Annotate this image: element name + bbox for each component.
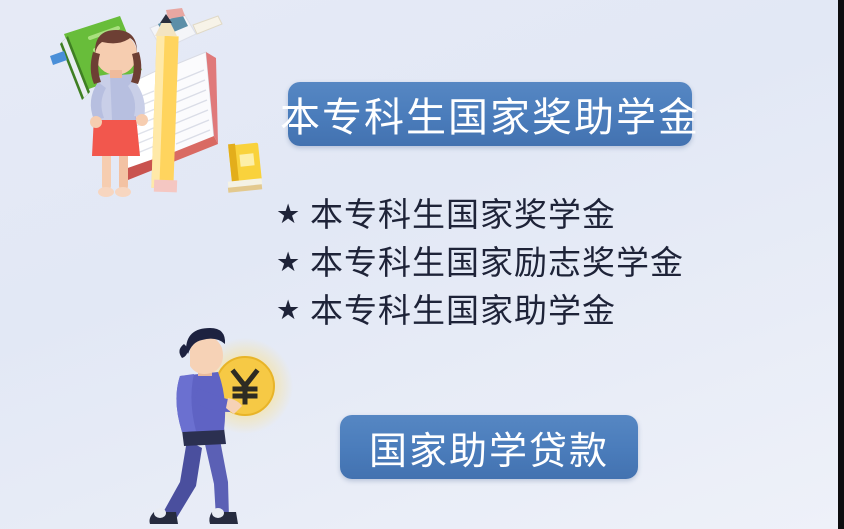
list-item-label: 本专科生国家助学金 (310, 294, 616, 327)
list-item-label: 本专科生国家励志奖学金 (310, 246, 684, 279)
small-yellow-book-icon (228, 143, 262, 193)
list-item: ★ 本专科生国家奖学金 (276, 190, 796, 238)
list-item-label: 本专科生国家奖学金 (310, 198, 616, 231)
list-item: ★ 本专科生国家助学金 (276, 286, 796, 334)
man-carrying-yuan-coin-illustration (132, 322, 302, 529)
footer-badge-student-loan: 国家助学贷款 (340, 415, 638, 479)
scholarship-type-list: ★ 本专科生国家奖学金 ★ 本专科生国家励志奖学金 ★ 本专科生国家助学金 (276, 190, 796, 334)
student-with-books-illustration (46, 8, 274, 198)
star-icon: ★ (276, 297, 310, 324)
star-icon: ★ (276, 201, 310, 228)
yellow-pencil-icon (151, 14, 178, 192)
star-icon: ★ (276, 249, 310, 276)
list-item: ★ 本专科生国家励志奖学金 (276, 238, 796, 286)
right-edge-strip (838, 0, 844, 529)
header-badge-scholarship-grants: 本专科生国家奖助学金 (288, 82, 692, 146)
infographic-canvas: 本专科生国家奖助学金 ★ 本专科生国家奖学金 ★ 本专科生国家励志奖学金 ★ 本… (0, 0, 844, 529)
